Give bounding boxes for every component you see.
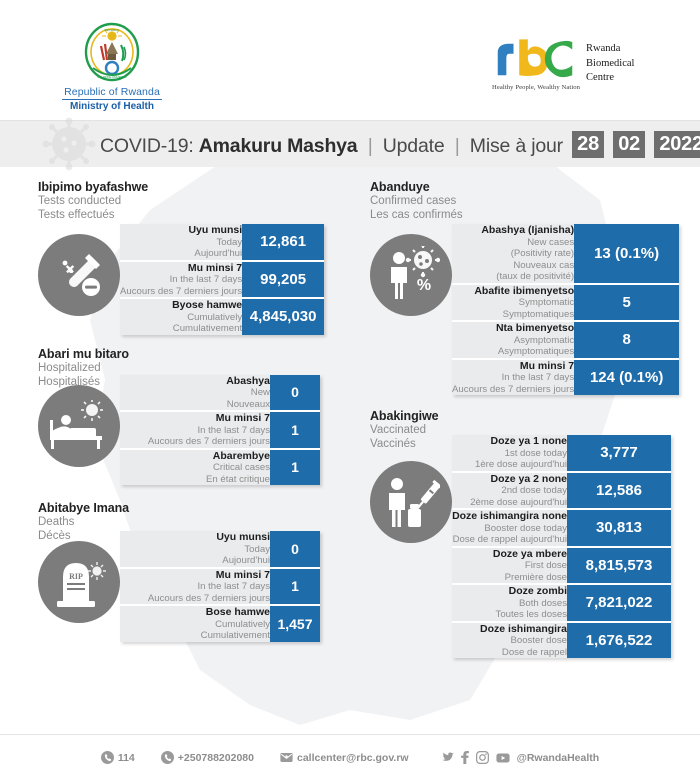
label-en: Symptomatic (452, 297, 574, 309)
label-en: Booster dose (452, 635, 567, 647)
dashboard-content: Ibipimo byafashwe Tests conducted Tests … (0, 167, 700, 658)
label-ki: Doze ishimangira (452, 623, 567, 636)
government-logo: REPUBLIC UBUMWE-UMURIMO Republic of Rwan… (62, 22, 162, 112)
label-fr: Aucours des 7 derniers jours (120, 286, 242, 298)
hospitalized-row-2-value: 1 (270, 449, 320, 486)
hospitalized-title: Abari mu bitaro (38, 347, 350, 361)
deaths-subtitle-en: Deaths (38, 515, 350, 529)
label-ki: Uyu munsi (120, 531, 270, 544)
title-text: COVID-19: Amakuru Mashya | Update | Mise… (100, 131, 700, 158)
table-row: Mu minsi 7 In the last 7 days Aucours de… (120, 568, 320, 606)
table-row: Uyu munsi Today Aujourd'hui 12,861 (120, 224, 324, 261)
section-deaths: Abitabye Imana Deaths Décès RIP (38, 501, 350, 642)
phone-number: +250788202080 (178, 752, 254, 764)
logo-bar: REPUBLIC UBUMWE-UMURIMO Republic of Rwan… (0, 0, 700, 120)
youtube-icon[interactable] (496, 752, 510, 764)
svg-text:%: % (417, 277, 431, 294)
label-en: Cumulatively (120, 312, 242, 324)
label-fr: Aucours des 7 derniers jours (120, 436, 270, 448)
label-en: 2nd dose today (452, 485, 567, 497)
label-en: First dose (452, 560, 567, 572)
rbc-name-line1: Rwanda (586, 42, 634, 57)
instagram-icon[interactable] (476, 751, 489, 764)
label-fr2: (taux de positivité) (452, 271, 574, 283)
label-ki: Abarembye (120, 450, 270, 463)
label-en: 1st dose today (452, 448, 567, 460)
label-ki: Doze ishimangira none (452, 510, 567, 523)
title-english: Update (383, 135, 445, 157)
table-row: Mu minsi 7 In the last 7 days Aucours de… (120, 411, 320, 449)
table-row: Byose hamwe Cumulatively Cumulativement … (120, 298, 324, 335)
label-ki: Mu minsi 7 (452, 360, 574, 373)
tests-row-1-label: Mu minsi 7 In the last 7 days Aucours de… (120, 261, 242, 299)
social-icons (441, 751, 517, 764)
tests-title: Ibipimo byafashwe (38, 180, 350, 194)
vaccinated-row-2-label: Doze ishimangira none Booster dose today… (452, 509, 567, 547)
label-fr: Aujourd'hui (120, 248, 242, 260)
tests-row-2-value: 4,845,030 (242, 298, 324, 335)
hospitalized-row-0-value: 0 (270, 375, 320, 412)
label-en2: (Positivity rate) (452, 248, 574, 260)
title-kinyarwanda: Amakuru Mashya (199, 135, 358, 157)
confirmed-row-1-label: Abafite ibimenyetso Symptomatic Symptoma… (452, 284, 574, 322)
tests-table: Uyu munsi Today Aujourd'hui 12,861 Mu mi… (120, 224, 324, 335)
rbc-letters-icon (492, 38, 578, 78)
confirmed-subtitle-fr: Les cas confirmés (370, 208, 700, 222)
tests-row-0-value: 12,861 (242, 224, 324, 261)
table-row: Abashya (Ijanisha) New cases (Positivity… (452, 224, 679, 284)
confirmed-row-3-value: 124 (0.1%) (574, 359, 679, 396)
gov-logo-line1: Republic of Rwanda (62, 86, 162, 98)
hospitalized-row-2-label: Abarembye Critical cases En état critiqu… (120, 449, 270, 486)
table-row: Abashya New Nouveaux 0 (120, 375, 320, 412)
label-en: In the last 7 days (120, 274, 242, 286)
table-row: Uyu munsi Today Aujourd'hui 0 (120, 531, 320, 568)
label-fr: Cumulativement (120, 630, 270, 642)
hotline-number: 114 (118, 752, 135, 764)
vaccinated-row-0-value: 3,777 (567, 435, 671, 472)
title-band: COVID-19: Amakuru Mashya | Update | Mise… (0, 120, 700, 167)
title-separator-2: | (450, 135, 465, 157)
label-fr: Asymptomatiques (452, 346, 574, 358)
hospitalized-row-1-value: 1 (270, 411, 320, 449)
label-fr: 2ème dose aujourd'hui (452, 497, 567, 509)
label-fr: Aujourd'hui (120, 555, 270, 567)
test-tube-negative-icon (38, 234, 120, 316)
label-en: In the last 7 days (452, 372, 574, 384)
label-ki: Abafite ibimenyetso (452, 285, 574, 298)
label-ki: Doze ya 1 none (452, 435, 567, 448)
phone-icon (101, 751, 114, 764)
label-ki: Bose hamwe (120, 606, 270, 619)
vaccinated-row-5-value: 1,676,522 (567, 622, 671, 659)
label-fr: Symptomatiques (452, 309, 574, 321)
label-en: Critical cases (120, 462, 270, 474)
tests-heading: Ibipimo byafashwe Tests conducted Tests … (38, 180, 350, 222)
person-syringe-vial-icon (370, 461, 452, 543)
hospitalized-row-1-label: Mu minsi 7 In the last 7 days Aucours de… (120, 411, 270, 449)
label-ki: Nta bimenyetso (452, 322, 574, 335)
vaccinated-title: Abakingiwe (370, 409, 700, 423)
deaths-row-0-label: Uyu munsi Today Aujourd'hui (120, 531, 270, 568)
deaths-row-2-label: Bose hamwe Cumulatively Cumulativement (120, 605, 270, 642)
table-row: Doze zombi Both doses Toutes les doses 7… (452, 584, 671, 622)
section-vaccinated: Abakingiwe Vaccinated Vaccinés (370, 409, 700, 658)
vaccinated-row-1-value: 12,586 (567, 472, 671, 510)
email-contact[interactable]: callcenter@rbc.gov.rw (280, 751, 409, 764)
title-prefix: COVID-19: (100, 135, 194, 157)
email-icon (280, 751, 293, 764)
label-ki: Byose hamwe (120, 299, 242, 312)
social-handle: @RwandaHealth (517, 752, 600, 764)
table-row: Doze ya mbere First dose Première dose 8… (452, 547, 671, 585)
hotline-contact[interactable]: 114 (101, 751, 135, 764)
person-virus-percent-icon: % (370, 234, 452, 316)
tombstone-rip-icon: RIP (38, 541, 120, 623)
confirmed-row-0-value: 13 (0.1%) (574, 224, 679, 284)
vaccinated-table: Doze ya 1 none 1st dose today 1ère dose … (452, 435, 671, 658)
svg-text:RIP: RIP (69, 572, 83, 581)
confirmed-table: Abashya (Ijanisha) New cases (Positivity… (452, 224, 679, 395)
table-row: Doze ya 1 none 1st dose today 1ère dose … (452, 435, 671, 472)
section-tests: Ibipimo byafashwe Tests conducted Tests … (38, 180, 350, 335)
label-ki: Doze ya 2 none (452, 473, 567, 486)
rwanda-coat-of-arms: REPUBLIC UBUMWE-UMURIMO (83, 22, 141, 84)
confirmed-row-2-value: 8 (574, 321, 679, 359)
confirmed-row-1-value: 5 (574, 284, 679, 322)
tests-subtitle-fr: Tests effectués (38, 208, 350, 222)
left-column: Ibipimo byafashwe Tests conducted Tests … (0, 180, 350, 658)
deaths-row-1-label: Mu minsi 7 In the last 7 days Aucours de… (120, 568, 270, 606)
label-en: Booster dose today (452, 523, 567, 535)
deaths-row-1-value: 1 (270, 568, 320, 606)
label-en: Today (120, 544, 270, 556)
right-column: Abanduye Confirmed cases Les cas confirm… (350, 180, 700, 658)
vaccinated-row-3-value: 8,815,573 (567, 547, 671, 585)
table-row: Abarembye Critical cases En état critiqu… (120, 449, 320, 486)
rbc-tagline: Healthy People, Wealthy Nation (492, 84, 580, 91)
label-fr: Nouveaux cas (452, 260, 574, 272)
label-fr: En état critique (120, 474, 270, 486)
email-address: callcenter@rbc.gov.rw (297, 752, 409, 764)
table-row: Nta bimenyetso Asymptomatic Asymptomatiq… (452, 321, 679, 359)
vaccinated-row-4-value: 7,821,022 (567, 584, 671, 622)
confirmed-row-3-label: Mu minsi 7 In the last 7 days Aucours de… (452, 359, 574, 396)
label-ki: Doze zombi (452, 585, 567, 598)
label-fr: 1ère dose aujourd'hui (452, 459, 567, 471)
rbc-name-line2: Biomedical (586, 57, 634, 72)
phone-contact[interactable]: +250788202080 (161, 751, 254, 764)
confirmed-row-0-label: Abashya (Ijanisha) New cases (Positivity… (452, 224, 574, 284)
label-en: In the last 7 days (120, 581, 270, 593)
vaccinated-row-5-label: Doze ishimangira Booster dose Dose de ra… (452, 622, 567, 659)
date-month: 02 (613, 131, 645, 158)
tests-row-2-label: Byose hamwe Cumulatively Cumulativement (120, 298, 242, 335)
deaths-title: Abitabye Imana (38, 501, 350, 515)
label-fr: Aucours des 7 derniers jours (120, 593, 270, 605)
svg-text:REPUBLIC: REPUBLIC (104, 28, 120, 32)
vaccinated-row-1-label: Doze ya 2 none 2nd dose today 2ème dose … (452, 472, 567, 510)
twitter-icon[interactable] (441, 752, 454, 764)
label-en: New cases (452, 237, 574, 249)
date-day: 28 (572, 131, 604, 158)
table-row: Mu minsi 7 In the last 7 days Aucours de… (452, 359, 679, 396)
label-en: In the last 7 days (120, 425, 270, 437)
hospital-bed-icon (38, 385, 120, 467)
section-hospitalized: Abari mu bitaro Hospitalized Hospitalisé… (38, 347, 350, 486)
table-row: Mu minsi 7 In the last 7 days Aucours de… (120, 261, 324, 299)
label-en: Asymptomatic (452, 335, 574, 347)
label-en: Today (120, 237, 242, 249)
deaths-row-0-value: 0 (270, 531, 320, 568)
title-separator-1: | (363, 135, 378, 157)
confirmed-row-2-label: Nta bimenyetso Asymptomatic Asymptomatiq… (452, 321, 574, 359)
tests-row-0-label: Uyu munsi Today Aujourd'hui (120, 224, 242, 261)
label-en: Cumulatively (120, 619, 270, 631)
vaccinated-row-4-label: Doze zombi Both doses Toutes les doses (452, 584, 567, 622)
section-confirmed: Abanduye Confirmed cases Les cas confirm… (370, 180, 700, 395)
label-ki: Uyu munsi (120, 224, 242, 237)
label-en: New (120, 387, 270, 399)
label-ki: Mu minsi 7 (120, 262, 242, 275)
label-fr: Cumulativement (120, 323, 242, 335)
coronavirus-icon (38, 113, 100, 175)
label-ki: Mu minsi 7 (120, 569, 270, 582)
table-row: Bose hamwe Cumulatively Cumulativement 1… (120, 605, 320, 642)
rbc-name-line3: Centre (586, 71, 634, 86)
vaccinated-row-3-label: Doze ya mbere First dose Première dose (452, 547, 567, 585)
contact-footer: 114 +250788202080 callcenter@rbc.gov.rw (0, 734, 700, 780)
hospitalized-table: Abashya New Nouveaux 0 Mu minsi 7 In the… (120, 375, 320, 486)
facebook-icon[interactable] (461, 751, 469, 764)
title-french: Mise à jour (470, 135, 563, 157)
label-fr: Toutes les doses (452, 609, 567, 621)
label-ki: Doze ya mbere (452, 548, 567, 561)
vaccinated-row-2-value: 30,813 (567, 509, 671, 547)
label-fr: Première dose (452, 572, 567, 584)
deaths-row-2-value: 1,457 (270, 605, 320, 642)
date-year: 2022 (654, 131, 700, 158)
confirmed-heading: Abanduye Confirmed cases Les cas confirm… (370, 180, 700, 222)
label-fr: Dose de rappel (452, 647, 567, 659)
deaths-table: Uyu munsi Today Aujourd'hui 0 Mu minsi 7… (120, 531, 320, 642)
social-contact: @RwandaHealth (435, 751, 600, 764)
phone-icon (161, 751, 174, 764)
table-row: Doze ishimangira none Booster dose today… (452, 509, 671, 547)
label-ki: Abashya (120, 375, 270, 388)
gov-logo-line2: Ministry of Health (62, 99, 162, 112)
hospitalized-row-0-label: Abashya New Nouveaux (120, 375, 270, 412)
label-ki: Abashya (Ijanisha) (452, 224, 574, 237)
label-en: Both doses (452, 598, 567, 610)
label-fr: Dose de rappel aujourd'hui (452, 534, 567, 546)
tests-subtitle-en: Tests conducted (38, 194, 350, 208)
table-row: Doze ya 2 none 2nd dose today 2ème dose … (452, 472, 671, 510)
tests-row-1-value: 99,205 (242, 261, 324, 299)
hospitalized-subtitle-en: Hospitalized (38, 361, 350, 375)
label-fr: Aucours des 7 derniers jours (452, 384, 574, 396)
label-fr: Nouveaux (120, 399, 270, 411)
svg-text:UBUMWE-UMURIMO: UBUMWE-UMURIMO (97, 75, 127, 79)
confirmed-subtitle-en: Confirmed cases (370, 194, 700, 208)
rbc-logo: Healthy People, Wealthy Nation Rwanda Bi… (492, 38, 634, 91)
label-ki: Mu minsi 7 (120, 412, 270, 425)
confirmed-title: Abanduye (370, 180, 700, 194)
table-row: Doze ishimangira Booster dose Dose de ra… (452, 622, 671, 659)
table-row: Abafite ibimenyetso Symptomatic Symptoma… (452, 284, 679, 322)
vaccinated-row-0-label: Doze ya 1 none 1st dose today 1ère dose … (452, 435, 567, 472)
